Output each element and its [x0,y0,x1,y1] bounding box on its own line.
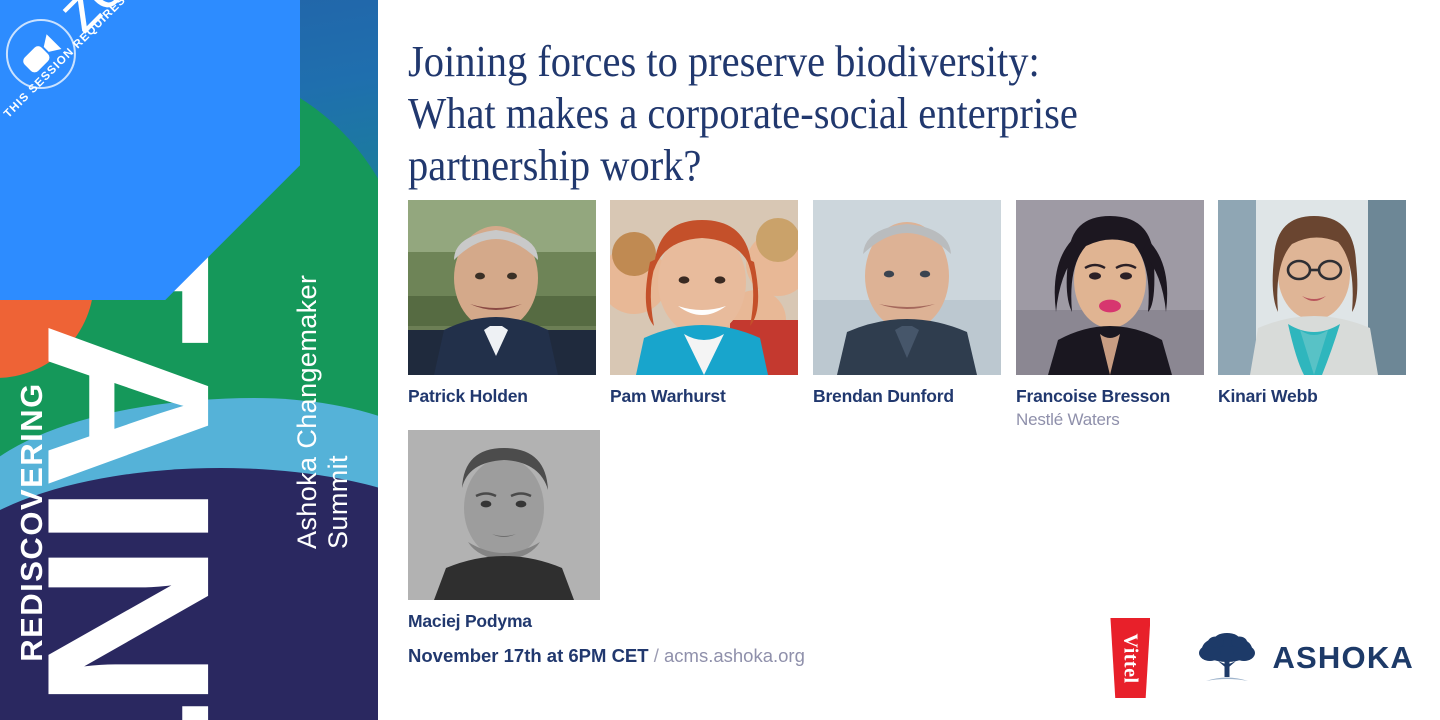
vittel-logo: Vittel [1110,618,1150,698]
webinar-promo-poster: CERTAINTY REDISCOVERING Ashoka Changemak… [0,0,1440,720]
speaker-card-francoise-bresson: Francoise Bresson Nestlé Waters [1016,200,1204,430]
speaker-name: Pam Warhurst [610,386,798,407]
speaker-card-pam-warhurst: Pam Warhurst [610,200,798,407]
ashoka-wordmark: ASHOKA [1272,640,1414,676]
left-branding-panel: CERTAINTY REDISCOVERING Ashoka Changemak… [0,0,378,720]
portrait-kinari-webb [1218,200,1406,375]
summit-event-name: Ashoka Changemaker Summit [292,207,354,549]
portrait-maciej-podyma [408,430,600,600]
speaker-name: Francoise Bresson [1016,386,1204,407]
speaker-card-patrick-holden: Patrick Holden [408,200,596,407]
speaker-name: Brendan Dunford [813,386,1001,407]
rediscovering-kicker: REDISCOVERING [14,382,50,662]
page-title: Joining forces to preserve biodiversity:… [408,36,1291,192]
title-line-3: partnership work? [408,140,1291,192]
speaker-card-brendan-dunford: Brendan Dunford [813,200,1001,407]
portrait-image [1016,200,1204,375]
date-separator: / [649,645,664,666]
portrait-image [1218,200,1406,375]
title-line-2: What makes a corporate-social enterprise [408,88,1291,140]
event-date: November 17th at 6PM CET [408,645,649,666]
portrait-image [813,200,1001,375]
main-content: Joining forces to preserve biodiversity:… [378,0,1440,720]
certainty-headline: CERTAINTY [37,0,218,720]
tree-icon [1196,631,1258,685]
ashoka-logo: ASHOKA [1196,631,1414,685]
speaker-card-kinari-webb: Kinari Webb [1218,200,1406,407]
speaker-org: Nestlé Waters [1016,410,1204,430]
sponsor-logos: Vittel ASH [1110,618,1414,698]
title-line-1: Joining forces to preserve biodiversity: [408,36,1291,88]
speaker-name: Maciej Podyma [408,611,596,632]
portrait-francoise-bresson [1016,200,1204,375]
portrait-pam-warhurst [610,200,798,375]
event-url[interactable]: acms.ashoka.org [664,645,805,666]
speaker-name: Patrick Holden [408,386,596,407]
speaker-card-maciej-podyma: Maciej Podyma [408,430,596,632]
portrait-brendan-dunford [813,200,1001,375]
portrait-patrick-holden [408,200,596,375]
event-date-line: November 17th at 6PM CET / acms.ashoka.o… [408,645,805,667]
portrait-image [408,430,600,600]
portrait-image [408,200,596,375]
speaker-name: Kinari Webb [1218,386,1406,407]
vittel-wordmark: Vittel [1119,633,1142,683]
portrait-image [610,200,798,375]
